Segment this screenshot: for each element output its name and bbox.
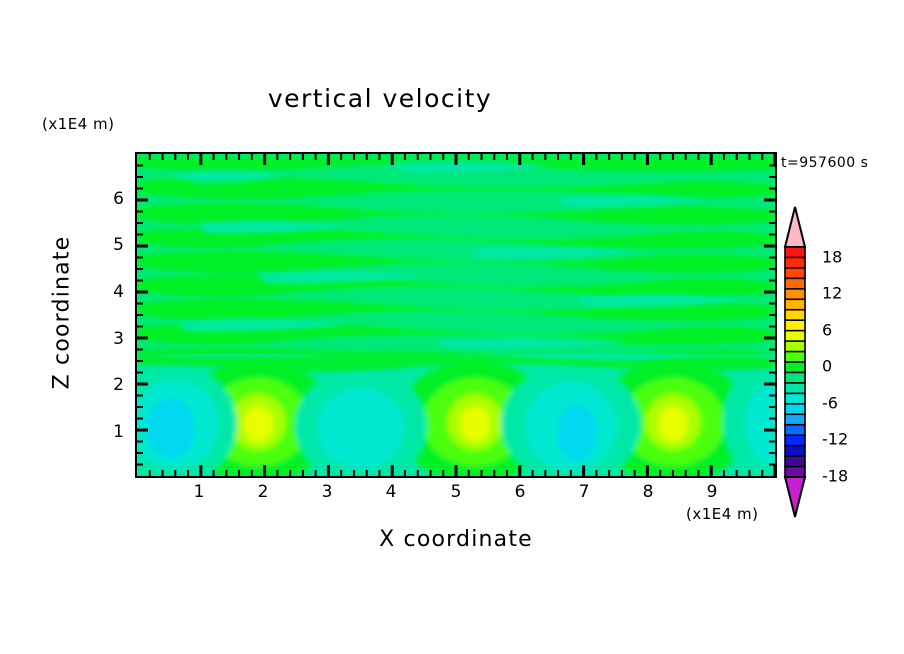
colorbar-band	[785, 414, 805, 425]
colorbar-over-arrow	[785, 207, 805, 247]
colorbar-tick-label: 12	[822, 284, 842, 303]
colorbar-band	[785, 352, 805, 363]
x-tick-label: 5	[451, 482, 462, 502]
colorbar-band	[785, 383, 805, 394]
colorbar-band	[785, 404, 805, 415]
colorbar-band	[785, 362, 805, 373]
x-tick-label: 8	[643, 482, 654, 502]
plot-area	[135, 152, 777, 478]
colorbar-band	[785, 425, 805, 436]
colorbar-band	[785, 278, 805, 289]
y-axis-label: Z coordinate	[50, 203, 75, 423]
colorbar-tick-label: 18	[822, 248, 842, 267]
colorbar-band	[785, 310, 805, 321]
colorbar-band	[785, 435, 805, 446]
colorbar-tick-label: -12	[822, 430, 848, 449]
y-tick-label: 1	[0, 422, 124, 442]
colorbar-tick-label: 0	[822, 357, 832, 376]
x-tick-label: 7	[579, 482, 590, 502]
x-axis-label: X coordinate	[135, 527, 777, 552]
colorbar-band	[785, 467, 805, 478]
colorbar-band	[785, 257, 805, 268]
colorbar-tick-label: 6	[822, 321, 832, 340]
x-tick-label: 9	[707, 482, 718, 502]
colorbar-band	[785, 456, 805, 467]
colorbar-band	[785, 331, 805, 342]
x-tick-label: 4	[386, 482, 397, 502]
contour-plot-figure: vertical velocity (x1E4 m) t=957600 s	[0, 0, 904, 654]
colorbar-band	[785, 320, 805, 331]
colorbar-band	[785, 372, 805, 383]
x-axis-unit-label: (x1E4 m)	[686, 505, 759, 523]
page-title: vertical velocity	[0, 84, 760, 113]
colorbar-band	[785, 289, 805, 300]
timestamp-annotation: t=957600 s	[781, 155, 868, 171]
colorbar-band	[785, 299, 805, 310]
colorbar-band	[785, 393, 805, 404]
colorbar-band	[785, 446, 805, 457]
colorbar-band	[785, 247, 805, 258]
colorbar-under-arrow	[785, 477, 805, 517]
axis-ticks	[137, 154, 775, 476]
y-axis-unit-label: (x1E4 m)	[42, 115, 115, 133]
colorbar-tick-label: -18	[822, 467, 848, 486]
colorbar-tick-label: -6	[822, 394, 838, 413]
colorbar	[779, 205, 817, 519]
x-tick-label: 3	[322, 482, 333, 502]
x-tick-label: 1	[194, 482, 205, 502]
colorbar-band	[785, 341, 805, 352]
x-tick-label: 2	[258, 482, 269, 502]
x-tick-label: 6	[515, 482, 526, 502]
colorbar-band	[785, 268, 805, 279]
